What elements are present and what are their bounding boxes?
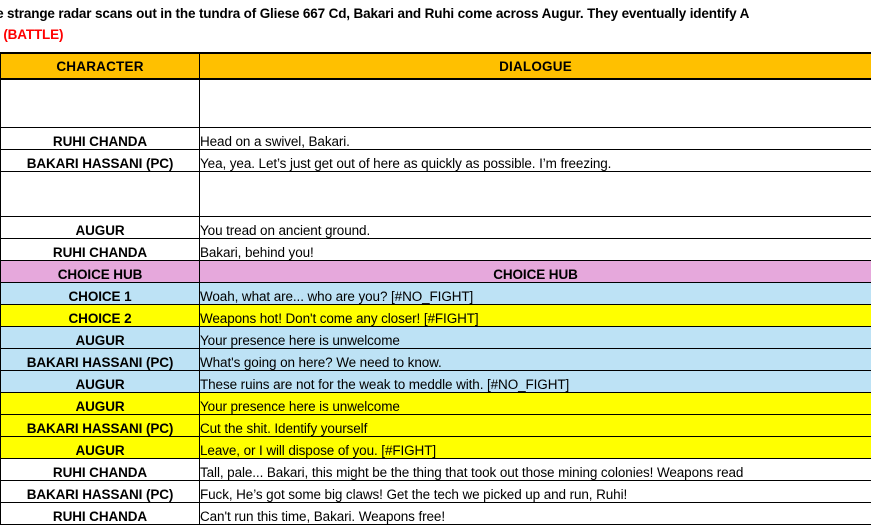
cell-character[interactable]: RUHI CHANDA bbox=[1, 238, 200, 260]
table-row: RUHI CHANDATall, pale... Bakari, this mi… bbox=[1, 458, 871, 480]
column-header-dialogue[interactable]: DIALOGUE bbox=[200, 53, 871, 79]
table-row: BAKARI HASSANI (PC)Fuck, He’s got some b… bbox=[1, 480, 871, 502]
cell-dialogue[interactable]: Fuck, He’s got some big claws! Get the t… bbox=[200, 480, 871, 502]
cell-character[interactable]: AUGUR bbox=[1, 326, 200, 348]
cell-character[interactable] bbox=[1, 171, 200, 216]
table-row: AUGURYour presence here is unwelcome bbox=[1, 392, 871, 414]
cell-dialogue[interactable] bbox=[200, 79, 871, 127]
table-row: BAKARI HASSANI (PC)Cut the shit. Identif… bbox=[1, 414, 871, 436]
cell-character[interactable]: AUGUR bbox=[1, 216, 200, 238]
table-row: AUGURYour presence here is unwelcome bbox=[1, 326, 871, 348]
cell-dialogue[interactable]: CHOICE HUB bbox=[200, 260, 871, 282]
table-row bbox=[1, 79, 871, 127]
table-body: RUHI CHANDAHead on a swivel, Bakari.BAKA… bbox=[1, 79, 871, 524]
cell-character[interactable]: BAKARI HASSANI (PC) bbox=[1, 480, 200, 502]
cell-dialogue[interactable]: Weapons hot! Don't come any closer! [#FI… bbox=[200, 304, 871, 326]
cell-character[interactable]: AUGUR bbox=[1, 392, 200, 414]
cell-dialogue[interactable]: Yea, yea. Let’s just get out of here as … bbox=[200, 149, 871, 171]
table-row: CHOICE 2Weapons hot! Don't come any clos… bbox=[1, 304, 871, 326]
cell-dialogue[interactable]: You tread on ancient ground. bbox=[200, 216, 871, 238]
cell-dialogue[interactable]: Leave, or I will dispose of you. [#FIGHT… bbox=[200, 436, 871, 458]
table-row: RUHI CHANDACan't run this time, Bakari. … bbox=[1, 502, 871, 524]
cell-dialogue[interactable]: Your presence here is unwelcome bbox=[200, 392, 871, 414]
table-row: RUHI CHANDABakari, behind you! bbox=[1, 238, 871, 260]
cell-character[interactable] bbox=[1, 79, 200, 127]
cell-dialogue[interactable]: Can't run this time, Bakari. Weapons fre… bbox=[200, 502, 871, 524]
cell-dialogue[interactable]: These ruins are not for the weak to medd… bbox=[200, 370, 871, 392]
cell-character[interactable]: BAKARI HASSANI (PC) bbox=[1, 414, 200, 436]
cell-character[interactable]: RUHI CHANDA bbox=[1, 502, 200, 524]
table-row: AUGURYou tread on ancient ground. bbox=[1, 216, 871, 238]
cell-character[interactable]: CHOICE 2 bbox=[1, 304, 200, 326]
cell-character[interactable]: AUGUR bbox=[1, 436, 200, 458]
table-row bbox=[1, 171, 871, 216]
battle-tag: (BATTLE) bbox=[3, 27, 63, 42]
cell-character[interactable]: RUHI CHANDA bbox=[1, 458, 200, 480]
table-row: CHOICE HUBCHOICE HUB bbox=[1, 260, 871, 282]
cell-character[interactable]: AUGUR bbox=[1, 370, 200, 392]
table-row: AUGURThese ruins are not for the weak to… bbox=[1, 370, 871, 392]
synopsis-line-1: he strange radar scans out in the tundra… bbox=[0, 3, 871, 24]
cell-dialogue[interactable]: Bakari, behind you! bbox=[200, 238, 871, 260]
synopsis-block: he strange radar scans out in the tundra… bbox=[0, 0, 871, 52]
cell-dialogue[interactable] bbox=[200, 171, 871, 216]
table-row: BAKARI HASSANI (PC)What's going on here?… bbox=[1, 348, 871, 370]
cell-character[interactable]: BAKARI HASSANI (PC) bbox=[1, 149, 200, 171]
cell-dialogue[interactable]: Your presence here is unwelcome bbox=[200, 326, 871, 348]
cell-dialogue[interactable]: Cut the shit. Identify yourself bbox=[200, 414, 871, 436]
cell-dialogue[interactable]: Head on a swivel, Bakari. bbox=[200, 127, 871, 149]
cell-character[interactable]: BAKARI HASSANI (PC) bbox=[1, 348, 200, 370]
cell-character[interactable]: RUHI CHANDA bbox=[1, 127, 200, 149]
table-row: RUHI CHANDAHead on a swivel, Bakari. bbox=[1, 127, 871, 149]
dialogue-table: CHARACTER DIALOGUE RUHI CHANDAHead on a … bbox=[0, 52, 871, 525]
table-row: CHOICE 1Woah, what are... who are you? [… bbox=[1, 282, 871, 304]
column-header-character[interactable]: CHARACTER bbox=[1, 53, 200, 79]
table-row: BAKARI HASSANI (PC)Yea, yea. Let’s just … bbox=[1, 149, 871, 171]
cell-dialogue[interactable]: Tall, pale... Bakari, this might be the … bbox=[200, 458, 871, 480]
cell-character[interactable]: CHOICE HUB bbox=[1, 260, 200, 282]
table-row: AUGURLeave, or I will dispose of you. [#… bbox=[1, 436, 871, 458]
cell-dialogue[interactable]: What's going on here? We need to know. bbox=[200, 348, 871, 370]
synopsis-line-2: n. (BATTLE) bbox=[0, 24, 871, 45]
table-header-row: CHARACTER DIALOGUE bbox=[1, 53, 871, 79]
cell-dialogue[interactable]: Woah, what are... who are you? [#NO_FIGH… bbox=[200, 282, 871, 304]
cell-character[interactable]: CHOICE 1 bbox=[1, 282, 200, 304]
